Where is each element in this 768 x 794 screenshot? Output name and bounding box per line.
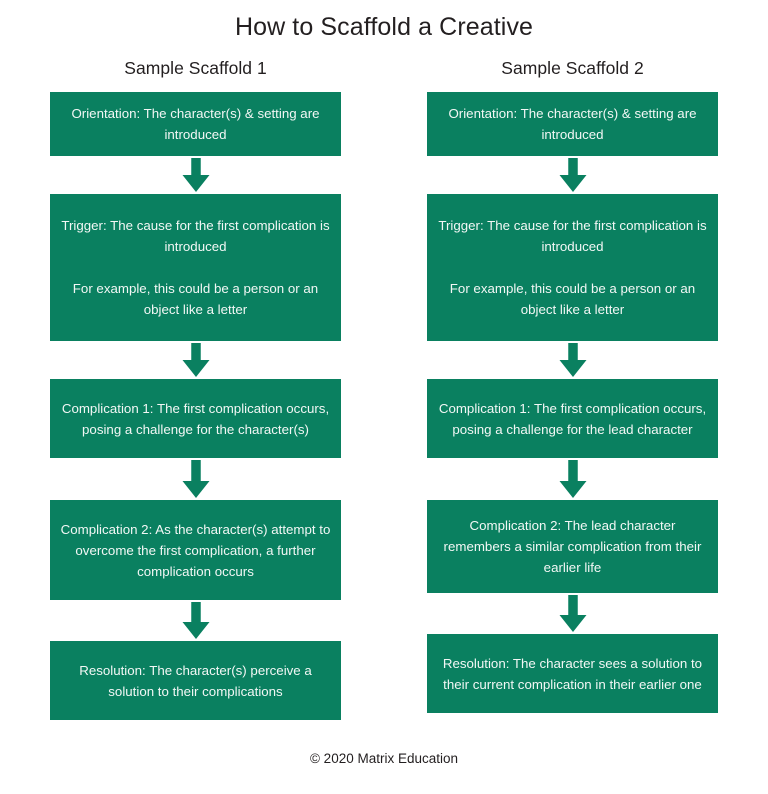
flow-arrow-down-icon xyxy=(50,341,341,379)
node-text: For example, this could be a person or a… xyxy=(58,278,333,320)
node-resolution: Resolution: The character sees a solutio… xyxy=(427,634,718,713)
node-trigger: Trigger: The cause for the first complic… xyxy=(50,194,341,341)
flow-arrow-down-icon xyxy=(427,593,718,634)
node-orientation: Orientation: The character(s) & setting … xyxy=(427,92,718,156)
flow-arrow-down-icon xyxy=(427,458,718,500)
node-text: Complication 1: The first complication o… xyxy=(435,398,710,440)
scaffold-column-2: Sample Scaffold 2 Orientation: The chara… xyxy=(427,58,718,720)
node-orientation: Orientation: The character(s) & setting … xyxy=(50,92,341,156)
flow-arrow-down-icon xyxy=(50,600,341,641)
flow-arrow-down-icon xyxy=(50,458,341,500)
flow-arrow-down-icon xyxy=(427,341,718,379)
node-complication-1: Complication 1: The first complication o… xyxy=(50,379,341,458)
node-complication-2: Complication 2: The lead character remem… xyxy=(427,500,718,593)
node-text: Complication 2: As the character(s) atte… xyxy=(58,519,333,582)
flow-arrow-down-icon xyxy=(50,156,341,194)
node-text: Orientation: The character(s) & setting … xyxy=(58,103,333,145)
node-complication-1: Complication 1: The first complication o… xyxy=(427,379,718,458)
scaffold-column-1: Sample Scaffold 1 Orientation: The chara… xyxy=(50,58,341,720)
node-complication-2: Complication 2: As the character(s) atte… xyxy=(50,500,341,600)
node-trigger: Trigger: The cause for the first complic… xyxy=(427,194,718,341)
node-text: Trigger: The cause for the first complic… xyxy=(58,215,333,257)
node-text: For example, this could be a person or a… xyxy=(435,278,710,320)
node-text: Resolution: The character(s) perceive a … xyxy=(58,660,333,702)
diagram-page: How to Scaffold a Creative Sample Scaffo… xyxy=(0,0,768,794)
column-title-1: Sample Scaffold 1 xyxy=(50,58,341,79)
node-text: Orientation: The character(s) & setting … xyxy=(435,103,710,145)
column-body-2: Orientation: The character(s) & setting … xyxy=(427,92,718,713)
node-resolution: Resolution: The character(s) perceive a … xyxy=(50,641,341,720)
scaffold-columns: Sample Scaffold 1 Orientation: The chara… xyxy=(50,58,718,720)
node-text: Trigger: The cause for the first complic… xyxy=(435,215,710,257)
flow-arrow-down-icon xyxy=(427,156,718,194)
node-text: Complication 2: The lead character remem… xyxy=(435,515,710,578)
column-title-2: Sample Scaffold 2 xyxy=(427,58,718,79)
node-text: Resolution: The character sees a solutio… xyxy=(435,653,710,695)
column-body-1: Orientation: The character(s) & setting … xyxy=(50,92,341,720)
copyright-footer: © 2020 Matrix Education xyxy=(0,751,768,766)
page-title: How to Scaffold a Creative xyxy=(0,13,768,42)
node-text: Complication 1: The first complication o… xyxy=(58,398,333,440)
